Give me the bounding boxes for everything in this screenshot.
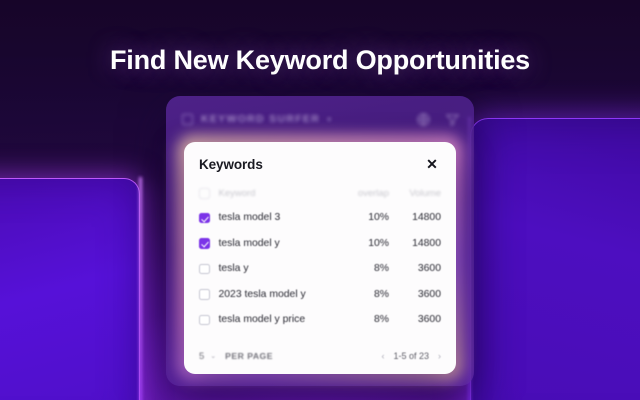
cell-keyword: tesla y <box>219 263 346 274</box>
select-all-checkbox[interactable] <box>199 188 210 199</box>
cell-overlap: 8% <box>345 314 389 325</box>
page-title: Find New Keyword Opportunities <box>0 45 640 76</box>
column-header-volume: Volume <box>389 188 441 199</box>
keywords-modal: Keywords ✕ Keyword overlap Volume tesla … <box>184 142 456 374</box>
close-icon[interactable]: ✕ <box>423 155 441 173</box>
cell-volume: 14800 <box>389 238 441 249</box>
cell-overlap: 10% <box>345 238 389 249</box>
per-page-label: PER PAGE <box>225 351 273 361</box>
cell-keyword: tesla model y <box>219 238 346 249</box>
cell-volume: 14800 <box>389 212 441 223</box>
keywords-table: Keyword overlap Volume tesla model 3 10%… <box>184 182 456 333</box>
prev-page-icon[interactable]: ‹ <box>381 351 384 361</box>
cell-overlap: 10% <box>345 212 389 223</box>
cell-keyword: tesla model 3 <box>219 212 346 223</box>
column-header-keyword: Keyword <box>219 188 346 199</box>
modal-title: Keywords <box>199 157 263 172</box>
chevron-down-icon: ⌄ <box>210 352 216 360</box>
decorative-panel-left <box>0 178 140 400</box>
cell-keyword: tesla model y price <box>219 314 346 325</box>
keywords-modal-wrapper: Keywords ✕ Keyword overlap Volume tesla … <box>184 142 456 374</box>
cell-overlap: 8% <box>345 263 389 274</box>
column-header-overlap: overlap <box>345 188 389 199</box>
row-checkbox[interactable] <box>199 315 210 326</box>
cell-volume: 3600 <box>389 263 441 274</box>
table-row[interactable]: tesla model y 10% 14800 <box>199 231 441 257</box>
row-checkbox[interactable] <box>199 289 210 300</box>
square-logo-icon <box>182 114 193 125</box>
cell-volume: 3600 <box>389 314 441 325</box>
extension-brand-label: KEYWORD SURFER <box>201 113 320 125</box>
pagination: ‹ 1-5 of 23 › <box>381 351 441 361</box>
row-checkbox[interactable] <box>199 264 210 275</box>
cell-volume: 3600 <box>389 289 441 300</box>
modal-header: Keywords ✕ <box>184 142 456 182</box>
filter-icon[interactable] <box>445 112 460 127</box>
per-page-selector[interactable]: 5 ⌄ PER PAGE <box>199 351 273 362</box>
table-row[interactable]: tesla y 8% 3600 <box>199 256 441 282</box>
chevron-down-icon: ▾ <box>327 115 331 124</box>
modal-footer: 5 ⌄ PER PAGE ‹ 1-5 of 23 › <box>184 342 456 374</box>
table-row[interactable]: tesla model 3 10% 14800 <box>199 205 441 231</box>
globe-icon[interactable] <box>416 112 431 127</box>
table-row[interactable]: tesla model y price 8% 3600 <box>199 307 441 333</box>
row-checkbox[interactable] <box>199 213 210 224</box>
per-page-value: 5 <box>199 351 204 362</box>
next-page-icon[interactable]: › <box>438 351 441 361</box>
cell-keyword: 2023 tesla model y <box>219 289 346 300</box>
cell-overlap: 8% <box>345 289 389 300</box>
pagination-range: 1-5 of 23 <box>393 351 429 361</box>
row-checkbox[interactable] <box>199 238 210 249</box>
decorative-panel-right <box>470 118 640 400</box>
table-row[interactable]: 2023 tesla model y 8% 3600 <box>199 282 441 308</box>
table-header-row: Keyword overlap Volume <box>199 182 441 205</box>
